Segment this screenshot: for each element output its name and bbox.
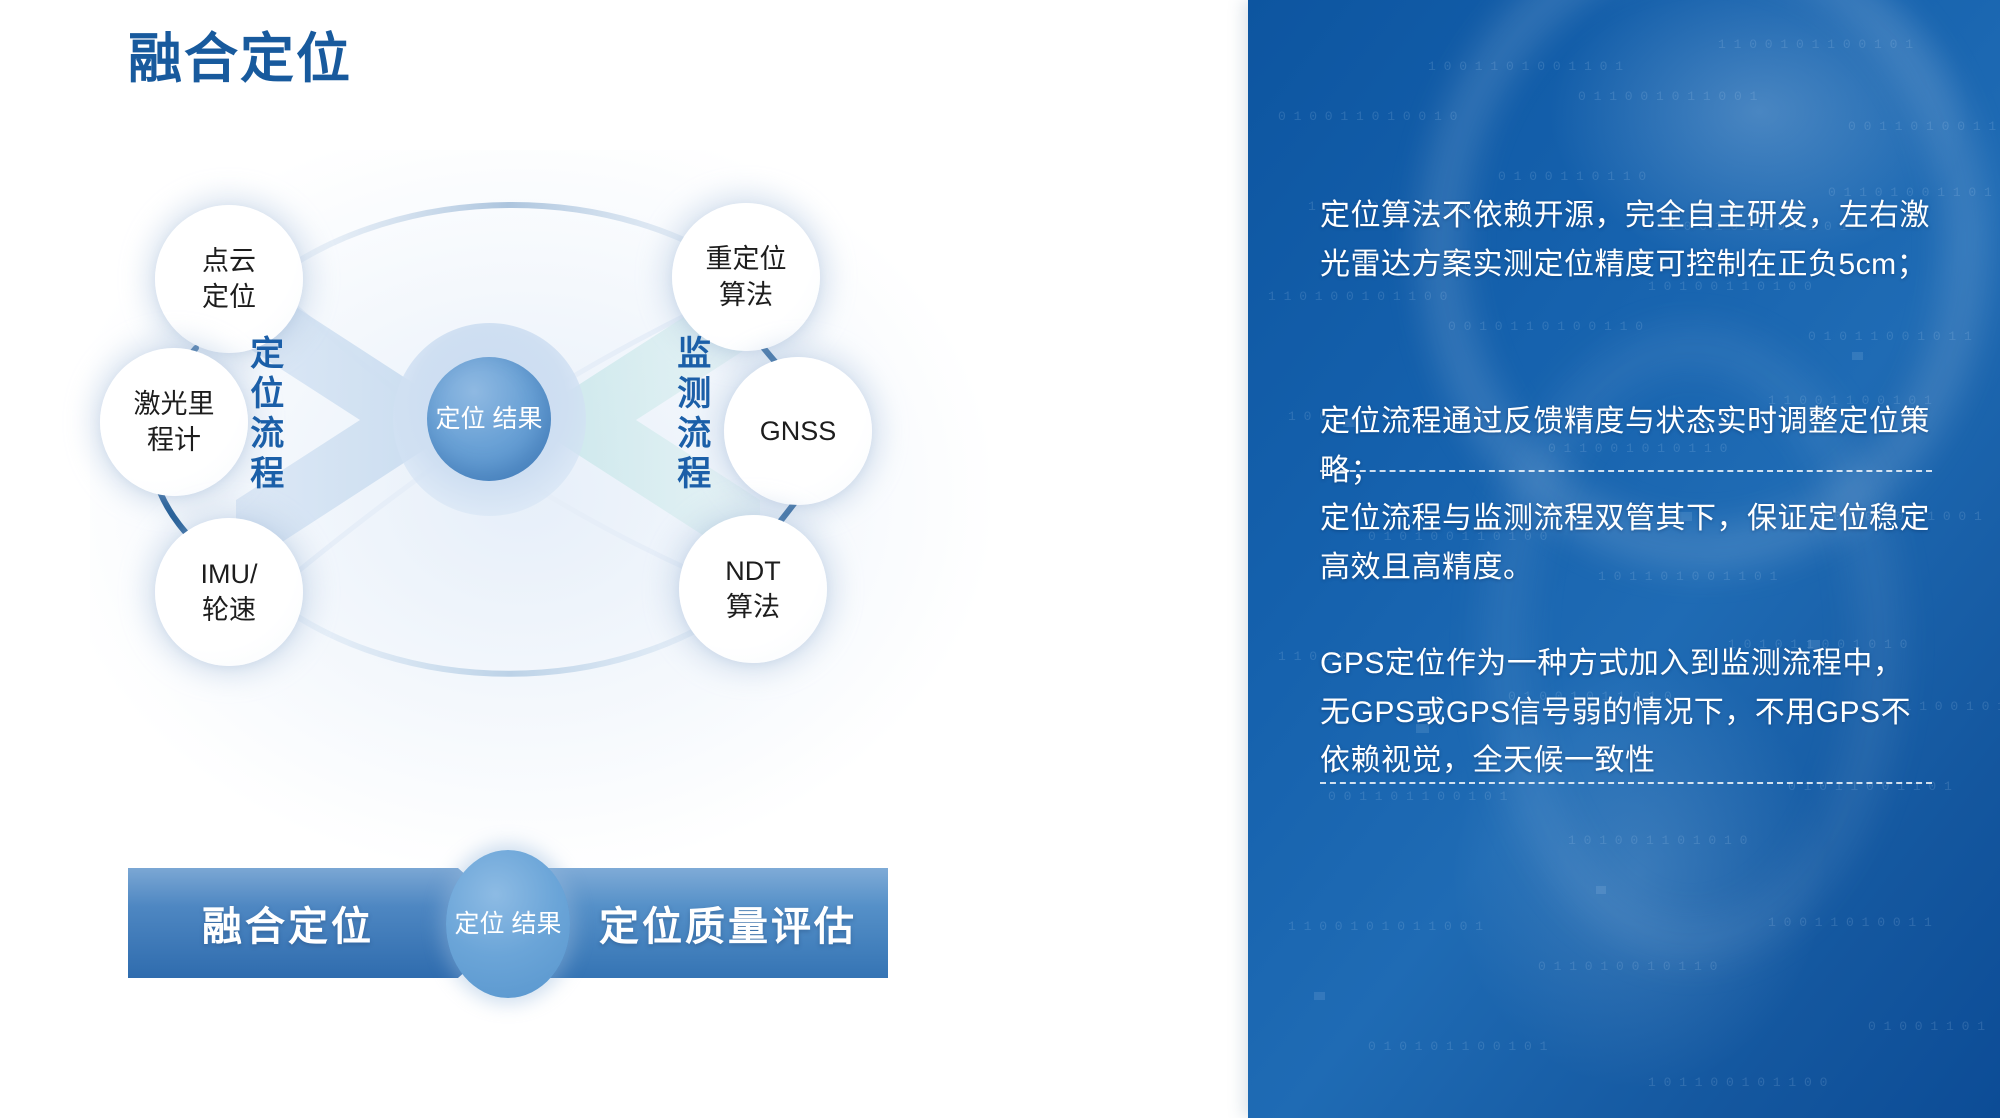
bottom-banner-right-label: 定位质量评估 xyxy=(568,868,888,978)
flow-label-monitoring-process: 监测流程 xyxy=(672,335,708,495)
left-pane: 融合定位 xyxy=(0,0,1248,1118)
right-info-panel: 0 1 0 0 1 1 0 1 0 0 1 0 1 0 0 1 1 0 1 0 … xyxy=(1248,0,2000,1118)
node-line-2: 轮速 xyxy=(201,592,258,628)
flow-label-localization-process: 定位流程 xyxy=(245,335,281,495)
center-node-line-1: 定位 xyxy=(436,405,486,433)
bottom-banner: 融合定位 定位质量评估 定位 结果 xyxy=(128,868,888,978)
panel-paragraph-1: 定位算法不依赖开源，完全自主研发，左右激光雷达方案实测定位精度可控制在正负5cm… xyxy=(1320,192,1932,289)
node-line-1: 激光里 xyxy=(134,386,215,422)
node-lidar-odometry[interactable]: 激光里 程计 xyxy=(100,348,248,496)
slide-root: 融合定位 xyxy=(0,0,2000,1118)
node-imu-wheel-speed[interactable]: IMU/ 轮速 xyxy=(155,518,303,666)
node-ndt-algorithm[interactable]: NDT 算法 xyxy=(679,515,827,663)
node-gnss[interactable]: GNSS xyxy=(724,357,872,505)
node-line-2: 算法 xyxy=(725,589,781,625)
center-node-localization-result[interactable]: 定位 结果 xyxy=(427,357,551,481)
center-node-line-2: 结果 xyxy=(492,405,542,433)
node-line-1: IMU/ xyxy=(201,556,258,592)
node-line-2: 算法 xyxy=(706,277,787,313)
bottom-banner-badge-localization-result[interactable]: 定位 结果 xyxy=(446,850,570,998)
node-relocalization-algorithm[interactable]: 重定位 算法 xyxy=(672,203,820,351)
panel-paragraph-3: GPS定位作为一种方式加入到监测流程中，无GPS或GPS信号弱的情况下，不用GP… xyxy=(1320,640,1932,786)
node-line-1: NDT xyxy=(725,553,781,589)
badge-line-2: 结果 xyxy=(511,910,561,938)
node-line-2: 定位 xyxy=(202,279,256,315)
badge-line-1: 定位 xyxy=(455,910,505,938)
node-line-1: 点云 xyxy=(202,243,256,279)
node-line-1: GNSS xyxy=(760,413,837,449)
right-panel-content: 定位算法不依赖开源，完全自主研发，左右激光雷达方案实测定位精度可控制在正负5cm… xyxy=(1248,0,2000,1118)
node-point-cloud-localization[interactable]: 点云 定位 xyxy=(155,205,303,353)
node-line-1: 重定位 xyxy=(706,241,787,277)
panel-paragraph-2: 定位流程通过反馈精度与状态实时调整定位策略；定位流程与监测流程双管其下，保证定位… xyxy=(1320,398,1932,592)
bottom-banner-left-label: 融合定位 xyxy=(128,868,448,978)
node-line-2: 程计 xyxy=(134,422,215,458)
